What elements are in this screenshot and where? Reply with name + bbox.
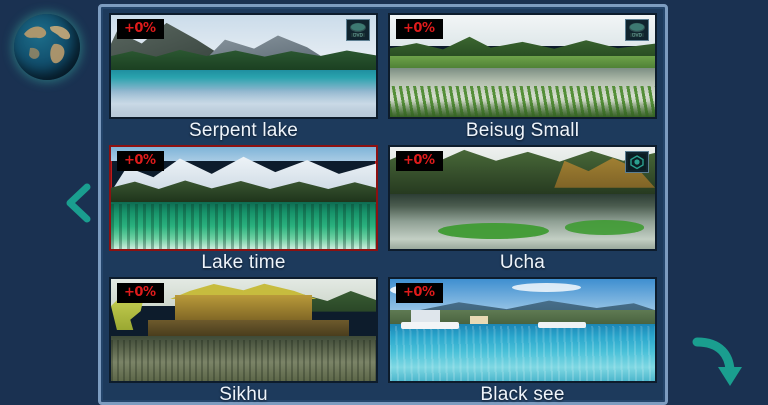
status-badge: +0% <box>117 283 164 303</box>
card-thumbnail[interactable]: +0% DVD <box>388 13 657 119</box>
card-thumbnail[interactable]: +0% <box>109 145 378 251</box>
status-badge: +0% <box>117 151 164 171</box>
gallery-screen: +0% DVD Serpent lake <box>0 0 768 405</box>
gallery-grid: +0% DVD Serpent lake <box>109 13 657 396</box>
svg-text:DVD: DVD <box>353 32 363 38</box>
next-page-button[interactable] <box>682 327 760 399</box>
card-thumbnail[interactable]: +0% <box>388 145 657 251</box>
card-title: Sikhu <box>219 383 268 405</box>
gallery-card[interactable]: +0% Black see <box>388 277 657 405</box>
previous-page-button[interactable] <box>55 178 101 228</box>
curved-arrow-down-icon <box>691 334 751 392</box>
globe-logo[interactable] <box>14 14 80 80</box>
status-badge: +0% <box>396 283 443 303</box>
card-thumbnail[interactable]: +0% <box>388 277 657 383</box>
card-title: Black see <box>480 383 564 405</box>
card-title: Beisug Small <box>466 119 579 143</box>
chevron-left-icon <box>61 183 95 223</box>
gallery-card[interactable]: +0% Sikhu <box>109 277 378 405</box>
status-badge: +0% <box>117 19 164 39</box>
card-thumbnail[interactable]: +0% <box>109 277 378 383</box>
status-badge: +0% <box>396 19 443 39</box>
gallery-panel: +0% DVD Serpent lake <box>98 4 668 405</box>
hexagon-emblem-icon <box>625 151 649 173</box>
gallery-card[interactable]: +0% DVD Serpent lake <box>109 13 378 143</box>
card-title: Serpent lake <box>189 119 298 143</box>
svg-text:DVD: DVD <box>632 32 642 38</box>
gallery-card[interactable]: +0% Ucha <box>388 145 657 275</box>
gallery-card-selected[interactable]: +0% Lake time <box>109 145 378 275</box>
oval-emblem-icon: DVD <box>346 19 370 41</box>
gallery-card[interactable]: +0% DVD Beisug Small <box>388 13 657 143</box>
status-badge: +0% <box>396 151 443 171</box>
globe-icon <box>14 14 80 80</box>
card-title: Ucha <box>500 251 545 275</box>
card-thumbnail[interactable]: +0% DVD <box>109 13 378 119</box>
card-title: Lake time <box>201 251 285 275</box>
oval-emblem-icon: DVD <box>625 19 649 41</box>
